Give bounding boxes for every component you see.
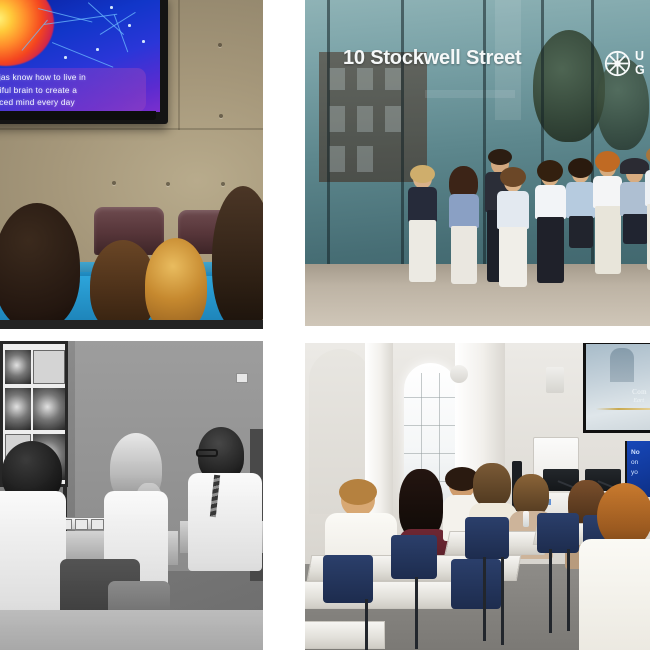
- logo-text-line-1: U: [635, 50, 645, 64]
- student-hair: [488, 149, 512, 165]
- bw-classroom-scene: [0, 341, 263, 650]
- photo-bottom-left[interactable]: [0, 341, 263, 650]
- audience-head: [0, 203, 80, 329]
- projector-text-line-2: Eart: [633, 398, 644, 404]
- student-shirt: [0, 491, 66, 611]
- lecture-theatre-scene: roNinjas know how to live in beautiful b…: [0, 0, 263, 329]
- classroom-chair: [537, 513, 579, 553]
- screen-bezel: [0, 111, 156, 120]
- wall-bolt: [166, 182, 170, 186]
- student-glasses: [196, 449, 218, 457]
- reflected-window: [385, 68, 401, 90]
- poster-image: [5, 388, 31, 430]
- chair-leg: [483, 557, 486, 641]
- student-hair: [339, 479, 377, 505]
- slide-spark: [96, 48, 99, 51]
- display-text-line-1: No: [631, 449, 640, 456]
- student-trousers: [537, 217, 564, 283]
- slide-spark: [128, 24, 131, 27]
- chair-leg: [415, 577, 418, 649]
- neuron-filament: [52, 42, 114, 68]
- slide-spark: [64, 56, 67, 59]
- student-hair: [568, 158, 593, 178]
- slide-caption: roNinjas know how to live in beautiful b…: [0, 68, 146, 112]
- wall-bolt: [112, 181, 116, 185]
- audience-head: [145, 238, 207, 329]
- water-bottle: [523, 511, 529, 527]
- reflected-window: [329, 106, 345, 132]
- building-address-text: 10 Stockwell Street: [343, 47, 522, 70]
- window-bar: [404, 397, 457, 398]
- university-logo-text: U G: [635, 50, 645, 77]
- student-trousers: [451, 226, 477, 284]
- student-shirt: [579, 539, 650, 650]
- photo-bottom-right[interactable]: Com Eart No on yo: [305, 343, 650, 650]
- poster-image: [5, 350, 31, 384]
- wall-bolt: [218, 43, 222, 47]
- ceiling-speaker: [450, 365, 468, 383]
- classroom-chair: [391, 535, 437, 579]
- classroom-chair: [323, 555, 373, 603]
- slide-spark: [142, 40, 145, 43]
- glass-reflection: [425, 90, 515, 98]
- photo-top-right[interactable]: 10 Stockwell Street U G: [305, 0, 650, 326]
- slide-divider: [596, 408, 650, 410]
- projector-screen-frame: Com Eart: [583, 343, 650, 433]
- slide-caption-line-1: roNinjas know how to live in: [0, 71, 142, 84]
- display-text-line-2: on: [631, 459, 638, 466]
- wall-speaker: [546, 367, 564, 393]
- student-top: [593, 176, 622, 208]
- student-hair: [513, 474, 549, 516]
- photo-bottom-band: [0, 320, 263, 329]
- poster-image: [33, 350, 65, 384]
- wall-bolt: [219, 114, 223, 118]
- photo-grid: roNinjas know how to live in beautiful b…: [0, 0, 650, 650]
- slide-spark: [110, 6, 113, 9]
- poster-image: [33, 388, 65, 430]
- chair-leg: [549, 549, 552, 633]
- student-skirt: [569, 216, 593, 248]
- reflected-window: [329, 68, 345, 90]
- student-hair: [537, 160, 563, 182]
- seminar-room-scene: Com Eart No on yo: [305, 343, 650, 650]
- reflected-building: [319, 52, 427, 182]
- university-of-greenwich-compass-logo: [604, 50, 631, 77]
- slide-figure: [610, 348, 634, 382]
- student-top: [566, 182, 595, 218]
- reflected-window: [357, 106, 373, 132]
- classroom-desk: [305, 621, 385, 649]
- student-top: [535, 185, 566, 219]
- student-skirt: [623, 214, 648, 244]
- reflected-window: [357, 146, 373, 172]
- student-top: [408, 187, 437, 222]
- stockwell-street-scene: 10 Stockwell Street U G: [305, 0, 650, 326]
- classroom-chair: [451, 559, 501, 609]
- slide-caption-line-2: beautiful brain to create a: [0, 84, 142, 97]
- reflected-window: [357, 68, 373, 90]
- power-socket: [75, 519, 88, 530]
- audience-head: [212, 186, 263, 329]
- photo-top-left[interactable]: roNinjas know how to live in beautiful b…: [0, 0, 263, 329]
- wall-seam: [178, 0, 180, 130]
- projector-screen: Com Eart: [586, 344, 650, 430]
- presentation-slide: roNinjas know how to live in beautiful b…: [0, 0, 160, 112]
- projector-text-line-1: Com: [632, 388, 647, 396]
- chair-leg: [567, 549, 570, 631]
- chair-leg: [365, 599, 368, 650]
- student-trousers: [499, 227, 527, 287]
- student-top: [449, 194, 479, 228]
- display-text-line-3: yo: [631, 469, 638, 476]
- student-trousers: [595, 206, 621, 274]
- wall-bolt: [221, 182, 225, 186]
- student-hair: [500, 167, 526, 187]
- reflected-window: [329, 146, 345, 172]
- window-bar: [404, 425, 457, 426]
- window-bar: [404, 453, 457, 454]
- presentation-screen-frame: roNinjas know how to live in beautiful b…: [0, 0, 168, 124]
- student-hair: [410, 165, 435, 183]
- power-socket: [91, 519, 104, 530]
- light-switch: [236, 373, 248, 383]
- classroom-chair: [465, 517, 509, 559]
- slide-caption-line-3: balanced mind every day: [0, 96, 142, 109]
- student-hair: [595, 151, 620, 172]
- reflected-window: [385, 106, 401, 132]
- student-trousers: [409, 220, 436, 282]
- chair-leg: [501, 557, 504, 645]
- student-shirt: [188, 473, 262, 571]
- student-top: [645, 170, 650, 206]
- student-hair: [473, 463, 511, 507]
- wall-seam: [0, 128, 263, 130]
- student-top: [497, 191, 529, 229]
- logo-text-line-2: G: [635, 64, 645, 78]
- foreground-desk: [0, 610, 263, 650]
